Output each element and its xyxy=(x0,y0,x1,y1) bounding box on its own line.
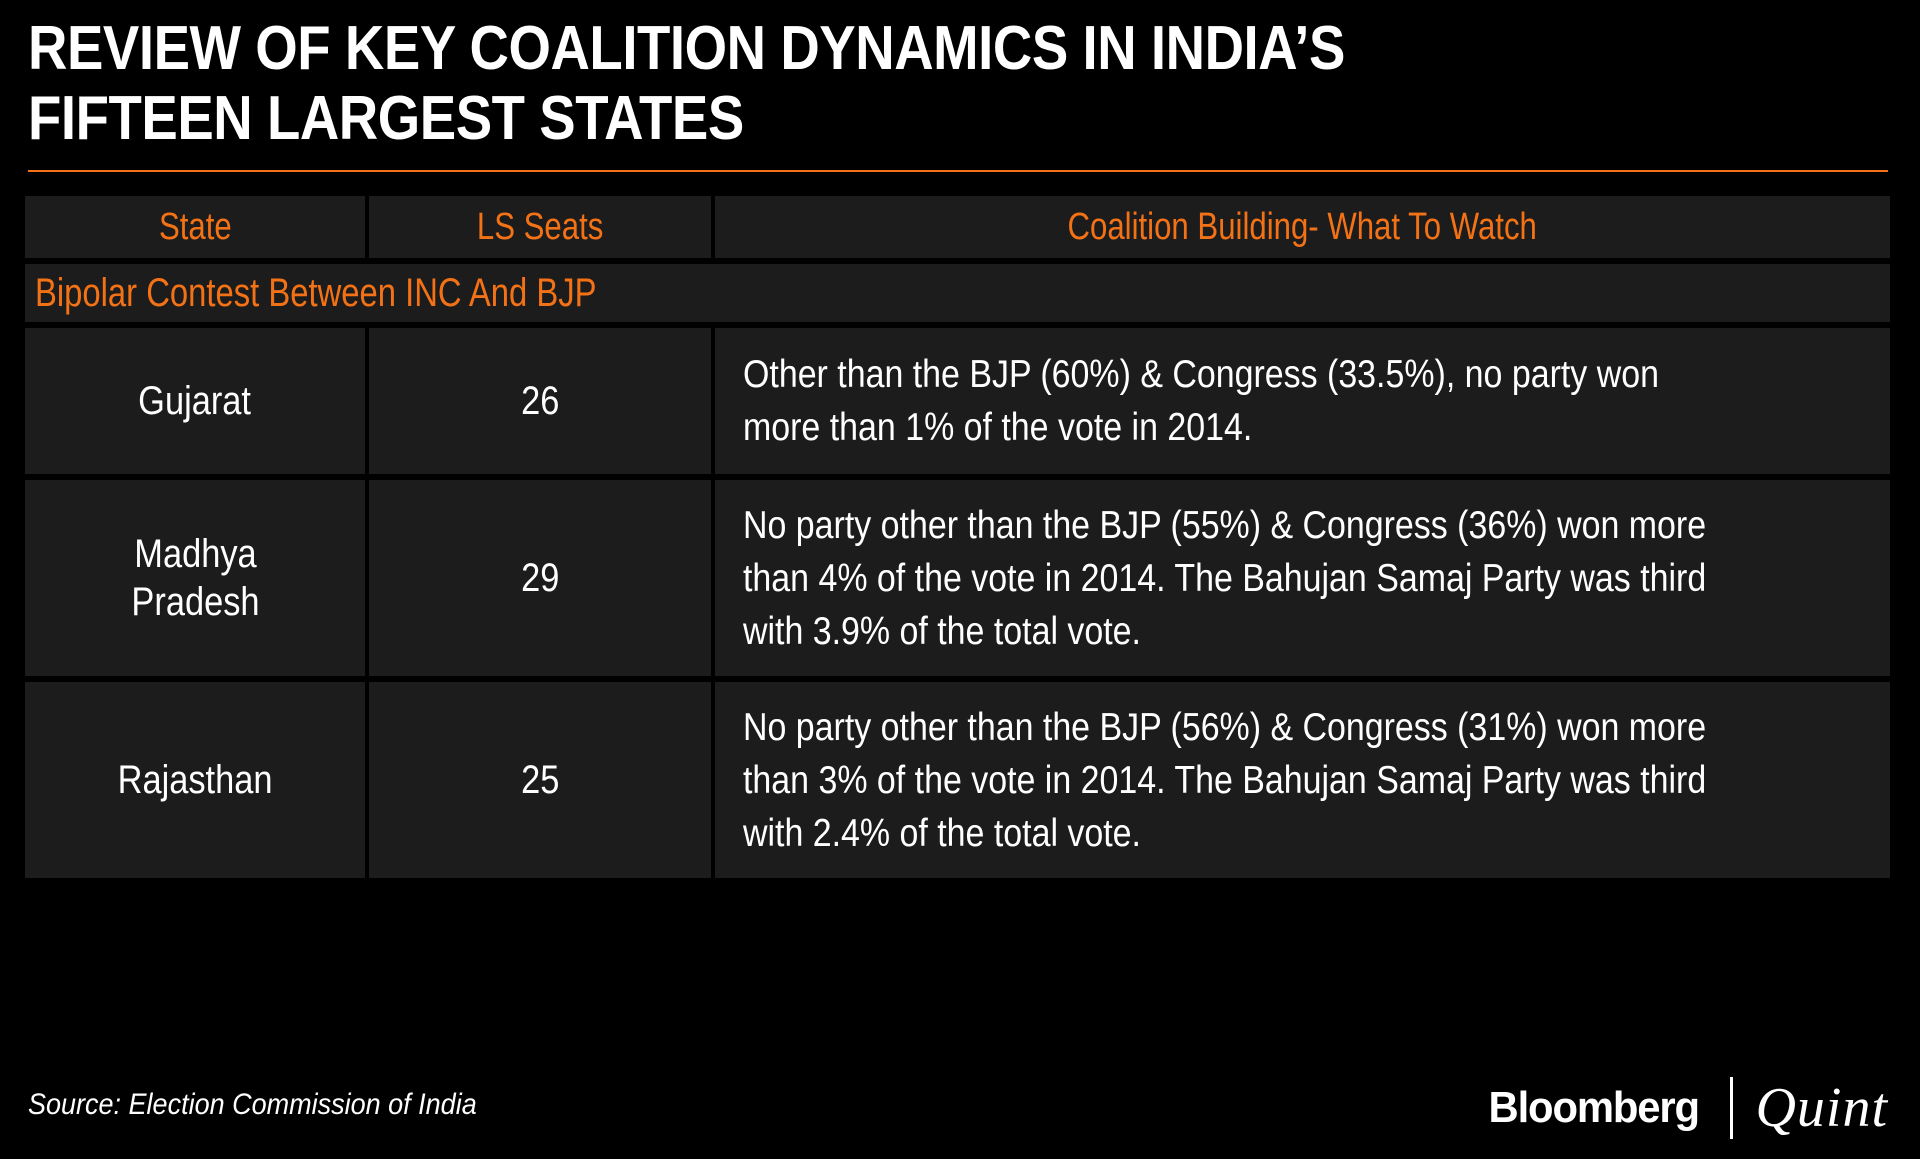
state-name: Rajasthan xyxy=(118,756,273,804)
cell-coalition-building: Other than the BJP (60%) & Congress (33.… xyxy=(715,328,1890,474)
table-header-row: State LS Seats Coalition Building- What … xyxy=(25,196,1890,258)
table-section-row-bipolar-contest: Bipolar Contest Between INC And BJP xyxy=(25,264,1890,322)
coalition-dynamics-table: State LS Seats Coalition Building- What … xyxy=(25,196,1890,884)
cell-state: Gujarat xyxy=(25,328,365,474)
cell-coalition-building: No party other than the BJP (55%) & Cong… xyxy=(715,480,1890,676)
ls-seats-value: 26 xyxy=(521,379,559,423)
ls-seats-value: 25 xyxy=(521,758,559,802)
cell-ls-seats: 26 xyxy=(369,328,711,474)
title-underline-rule xyxy=(28,170,1888,172)
coalition-building-text: No party other than the BJP (55%) & Cong… xyxy=(743,499,1718,658)
footer: Source: Election Commission of India Blo… xyxy=(0,1070,1920,1159)
bloomberg-quint-logo: Bloomberg Quint xyxy=(1483,1072,1892,1144)
column-header-ls-seats-label: LS Seats xyxy=(477,207,603,247)
coalition-building-text: No party other than the BJP (56%) & Cong… xyxy=(743,701,1718,860)
table-row: Rajasthan 25 No party other than the BJP… xyxy=(25,682,1890,878)
page-title: REVIEW OF KEY COALITION DYNAMICS IN INDI… xyxy=(28,14,1638,154)
table-row: Gujarat 26 Other than the BJP (60%) & Co… xyxy=(25,328,1890,474)
cell-coalition-building: No party other than the BJP (56%) & Cong… xyxy=(715,682,1890,878)
table-row: Madhya Pradesh 29 No party other than th… xyxy=(25,480,1890,676)
state-name: Gujarat xyxy=(139,377,252,425)
column-header-state-label: State xyxy=(159,207,232,247)
table-section-label: Bipolar Contest Between INC And BJP xyxy=(35,272,597,314)
column-header-state: State xyxy=(25,196,365,258)
ls-seats-value: 29 xyxy=(521,556,559,600)
quint-wordmark: Quint xyxy=(1755,1076,1892,1140)
bloomberg-wordmark: Bloomberg xyxy=(1489,1083,1699,1133)
coalition-building-text: Other than the BJP (60%) & Congress (33.… xyxy=(743,348,1718,454)
cell-ls-seats: 25 xyxy=(369,682,711,878)
page-title-block: REVIEW OF KEY COALITION DYNAMICS IN INDI… xyxy=(28,14,1858,154)
logo-divider xyxy=(1730,1077,1733,1139)
cell-state: Madhya Pradesh xyxy=(25,480,365,676)
source-attribution: Source: Election Commission of India xyxy=(28,1088,477,1122)
column-header-ls-seats: LS Seats xyxy=(369,196,711,258)
column-header-coalition-building: Coalition Building- What To Watch xyxy=(715,196,1890,258)
column-header-coalition-building-label: Coalition Building- What To Watch xyxy=(1068,207,1537,247)
state-name: Madhya Pradesh xyxy=(131,530,259,626)
cell-ls-seats: 29 xyxy=(369,480,711,676)
cell-state: Rajasthan xyxy=(25,682,365,878)
